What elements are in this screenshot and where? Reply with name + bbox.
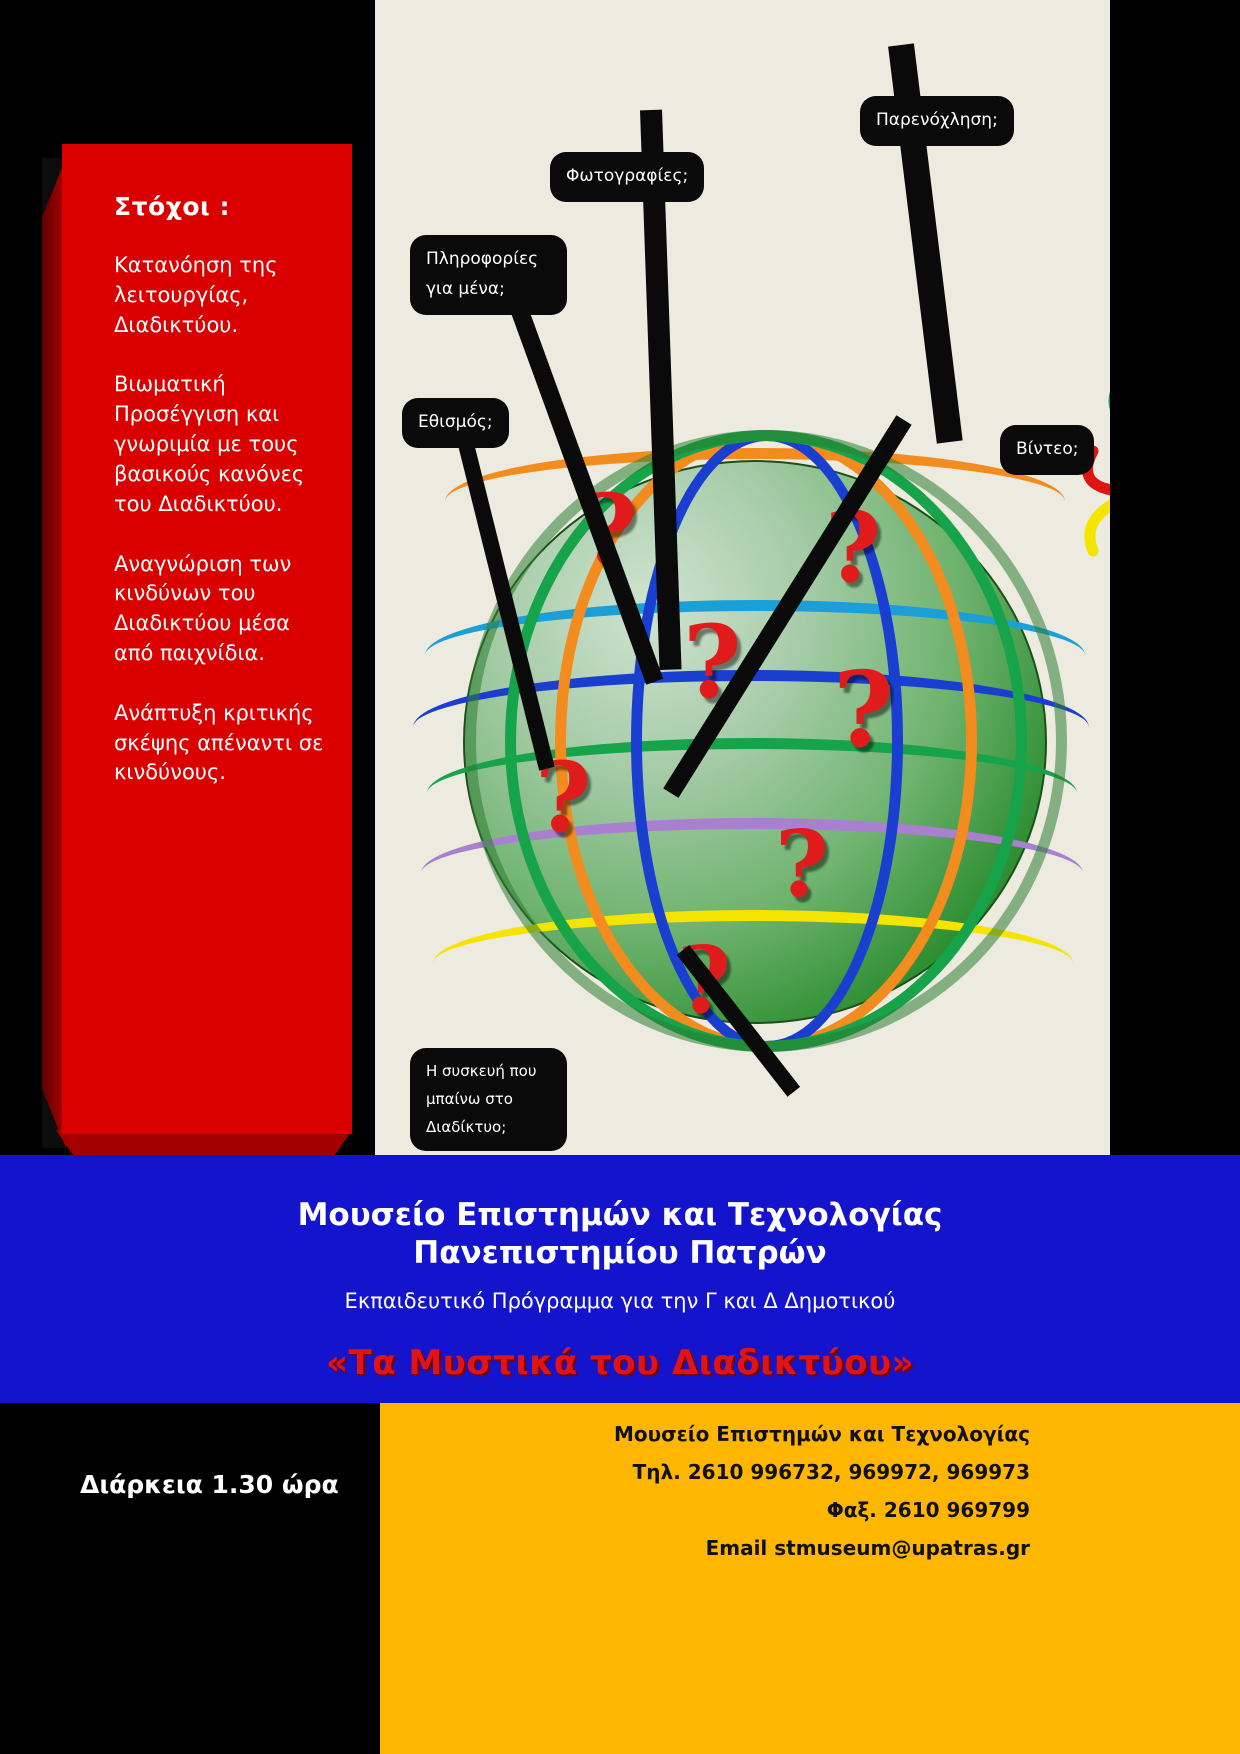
program-subtitle: Εκπαιδευτικό Πρόγραμμα για την Γ και Δ Δ… [0,1289,1240,1313]
objective-item: Αναγνώριση των κινδύνων του Διαδικτύου μ… [114,550,324,669]
objectives-title: Στόχοι : [114,192,352,221]
contact-block: Μουσείο Επιστημών και Τεχνολογίας Τηλ. 2… [614,1415,1030,1567]
right-black-margin [1110,0,1240,1155]
question-mark: ? [833,658,894,762]
bubble-harassment[interactable]: Παρενόχληση; [860,96,1014,146]
program-title: «Τα Μυστικά του Διαδικτύου» [0,1343,1240,1383]
duration-text: Διάρκεια 1.30 ώρα [80,1470,339,1499]
contact-email[interactable]: Email stmuseum@upatras.gr [614,1529,1030,1567]
objectives-panel: Στόχοι : Κατανόηση της λειτουργίας, Διαδ… [62,144,352,1134]
contact-line: Μουσείο Επιστημών και Τεχνολογίας [614,1415,1030,1453]
organization-line-1: Μουσείο Επιστημών και Τεχνολογίας [0,1155,1240,1235]
poster-root: ? ? ? ? ? ? ? Παρενόχληση; Φωτογραφίες; … [0,0,1240,1754]
bubble-device[interactable]: Η συσκευή που μπαίνω στο Διαδίκτυο; [410,1048,567,1151]
objective-item: Ανάπτυξη κριτικής σκέψης απέναντι σε κιν… [114,699,324,788]
contact-line: Φαξ. 2610 969799 [614,1491,1030,1529]
duration-panel [0,1403,380,1754]
bubble-info[interactable]: Πληροφορίες για μένα; [410,235,567,315]
organization-line-2: Πανεπιστημίου Πατρών [0,1235,1240,1273]
question-mark: ? [775,818,829,910]
bubble-photos[interactable]: Φωτογραφίες; [550,152,704,202]
globe-illustration: ? ? ? ? ? ? ? [405,420,1095,1040]
contact-line: Τηλ. 2610 996732, 969972, 969973 [614,1453,1030,1491]
illustration-panel: ? ? ? ? ? ? ? Παρενόχληση; Φωτογραφίες; … [375,0,1110,1155]
objective-item: Κατανόηση της λειτουργίας, Διαδικτύου. [114,251,324,340]
bubble-video[interactable]: Βίντεο; [1000,425,1094,475]
objective-item: Βιωματική Προσέγγιση και γνωριμία με του… [114,370,324,519]
museum-footer-band: Μουσείο Επιστημών και Τεχνολογίας Πανεπι… [0,1155,1240,1403]
bubble-addiction[interactable]: Εθισμός; [402,398,509,448]
